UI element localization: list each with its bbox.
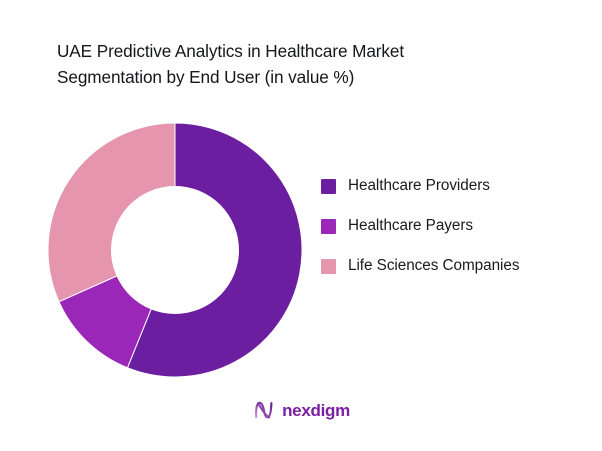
donut-chart-svg — [48, 123, 302, 377]
legend-item-label: Healthcare Payers — [348, 217, 473, 235]
page-title: UAE Predictive Analytics in Healthcare M… — [57, 38, 537, 90]
legend-item-life-sciences-companies[interactable]: Life Sciences Companies — [321, 256, 583, 276]
brand-logo: nexdigm — [0, 398, 602, 422]
donut-hole — [111, 186, 239, 314]
legend: Healthcare Providers Healthcare Payers L… — [321, 176, 583, 276]
legend-swatch-icon — [321, 219, 336, 234]
legend-item-label: Life Sciences Companies — [348, 257, 519, 275]
legend-swatch-icon — [321, 179, 336, 194]
legend-item-healthcare-payers[interactable]: Healthcare Payers — [321, 216, 583, 236]
legend-swatch-icon — [321, 259, 336, 274]
nexdigm-n-icon — [252, 398, 276, 422]
brand-logo-text: nexdigm — [282, 402, 350, 419]
legend-item-label: Healthcare Providers — [348, 177, 490, 195]
chart-page: UAE Predictive Analytics in Healthcare M… — [0, 0, 602, 451]
legend-item-healthcare-providers[interactable]: Healthcare Providers — [321, 176, 583, 196]
donut-chart — [48, 123, 302, 377]
